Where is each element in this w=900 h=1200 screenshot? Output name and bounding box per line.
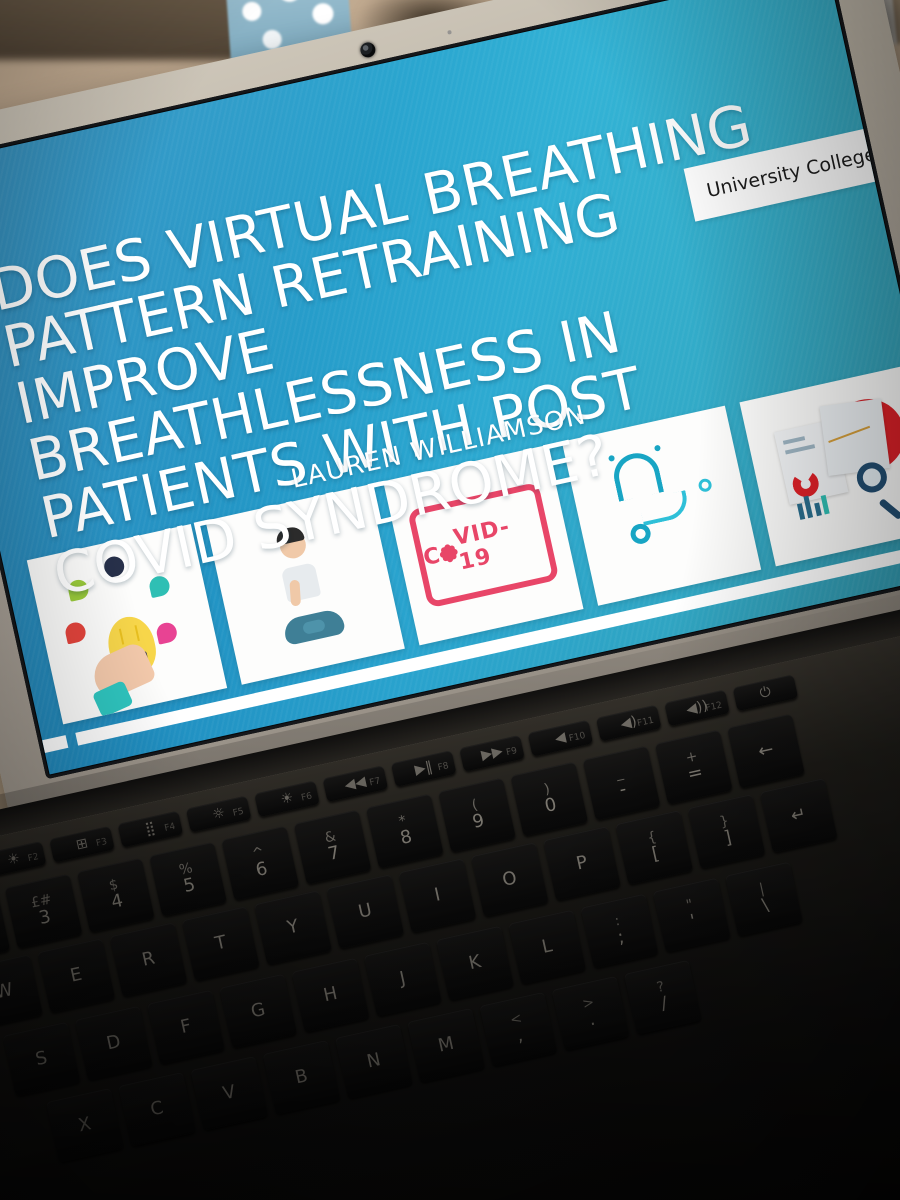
key-shift-glyph: } [718, 814, 730, 830]
idea-bubble-red [63, 620, 87, 644]
key-f9[interactable]: ▶▶F9 [459, 735, 525, 772]
key-glyph: ☀ [6, 851, 21, 868]
key-label: ; [616, 928, 626, 948]
key-fn-label: F11 [637, 716, 655, 729]
key-shift-glyph: ? [656, 980, 666, 996]
key-label: F [179, 1017, 193, 1038]
person-arm-icon [289, 580, 301, 607]
key-label: 0 [543, 796, 558, 817]
key-label: W [0, 980, 15, 1002]
key-[interactable]: += [655, 730, 733, 805]
key-f4[interactable]: ⣿F4 [117, 811, 183, 848]
key-t[interactable]: T [182, 906, 260, 981]
key-label: = [686, 763, 705, 785]
key-c[interactable]: C [118, 1072, 196, 1147]
key-label: D [105, 1032, 123, 1053]
key-[interactable]: ?/ [624, 960, 702, 1035]
key-label: 8 [399, 828, 414, 849]
key-[interactable]: <, [479, 992, 557, 1067]
key-fn-label: F4 [164, 822, 177, 834]
key-fn-label: F9 [505, 747, 518, 759]
key-shift-glyph: " [685, 898, 694, 914]
key-p[interactable]: P [543, 826, 621, 901]
key-fn-label: F3 [95, 837, 108, 849]
key-5[interactable]: %5 [149, 842, 227, 917]
key-f7[interactable]: ◀◀F7 [322, 765, 388, 802]
key-v[interactable]: V [190, 1056, 268, 1131]
key-label: H [322, 984, 339, 1005]
key-glyph: ☼ [211, 805, 226, 822]
key-label: , [515, 1027, 525, 1047]
key-label: N [365, 1051, 382, 1072]
key-4[interactable]: $4 [77, 858, 155, 933]
key-m[interactable]: M [407, 1008, 485, 1083]
key-glyph: ⊞ [75, 836, 90, 853]
key-label: K [467, 953, 483, 974]
key-l[interactable]: L [508, 910, 586, 985]
key-glyph: ☀ [279, 790, 294, 807]
key-label: Y [286, 917, 301, 938]
key-glyph: ▶▶ [480, 744, 504, 763]
key-label: T [213, 933, 228, 954]
magnifier-handle-icon [879, 498, 900, 520]
key-glyph: ▶‖ [413, 759, 434, 777]
key-label: 9 [471, 812, 486, 833]
key-glyph: ⏻ [758, 684, 772, 701]
key-glyph: ⣿ [144, 821, 157, 838]
key-label: ] [723, 829, 734, 849]
key-u[interactable]: U [326, 874, 404, 949]
person-torso-icon [281, 562, 322, 603]
key-[interactable]: >. [552, 976, 630, 1051]
key-o[interactable]: O [471, 842, 549, 917]
virus-particle-icon [440, 544, 458, 562]
key-glyph: ◀ [553, 730, 567, 747]
key-fn-label: F6 [300, 792, 313, 804]
key-fn-label: F5 [232, 807, 245, 819]
key-label: 6 [254, 860, 269, 881]
key-label: P [575, 853, 590, 874]
key-f6[interactable]: ☀F6 [254, 780, 320, 817]
key-label: S [34, 1049, 49, 1070]
key-label: J [398, 969, 407, 989]
key-label: O [501, 869, 519, 891]
key-power[interactable]: ⏻ [732, 674, 798, 711]
key-[interactable]: :; [581, 894, 659, 969]
key-label: 5 [182, 876, 197, 897]
key-i[interactable]: I [399, 858, 477, 933]
key-label: 4 [110, 892, 125, 913]
key-label: R [140, 949, 156, 970]
key-label: C [149, 1099, 165, 1120]
key-shift-glyph: { [646, 830, 658, 846]
key-label: [ [650, 845, 661, 865]
key-f[interactable]: F [147, 990, 225, 1065]
key-k[interactable]: K [436, 926, 514, 1001]
key-f8[interactable]: ▶‖F8 [391, 750, 457, 787]
key-[interactable]: {[ [615, 810, 693, 885]
slide-white-bar-left [42, 735, 68, 753]
key-[interactable]: }] [688, 794, 766, 869]
key-f2[interactable]: ☀F2 [0, 841, 46, 878]
key-fn-label: F2 [27, 853, 40, 865]
key-fn-label: F8 [437, 762, 450, 774]
key-label: 7 [326, 844, 341, 865]
key-shift-glyph: £# [30, 893, 53, 912]
key-9[interactable]: (9 [438, 778, 516, 853]
key-shift-glyph: & [324, 830, 338, 847]
key-8[interactable]: *8 [366, 794, 444, 869]
key-f3[interactable]: ⊞F3 [49, 826, 115, 863]
key-[interactable]: ↵ [760, 778, 838, 853]
key-shift-glyph: < [509, 1012, 524, 1029]
bar-chart-bar [797, 503, 805, 520]
key-f10[interactable]: ◀F10 [527, 720, 593, 757]
key-e[interactable]: E [37, 938, 115, 1013]
key-j[interactable]: J [364, 942, 442, 1017]
key-[interactable]: |\ [725, 862, 803, 937]
key-y[interactable]: Y [254, 890, 332, 965]
key-fn-label: F10 [568, 731, 586, 744]
key-label: M [436, 1034, 455, 1056]
key-[interactable]: "' [653, 878, 731, 953]
photo-scene: Does virtual breathing pattern retrainin… [0, 0, 900, 1200]
key-label: U [357, 901, 374, 922]
key-f11[interactable]: ◀)F11 [596, 705, 662, 742]
key-shift-glyph: % [178, 861, 194, 878]
key-label: E [69, 965, 84, 986]
key-[interactable]: _- [583, 746, 661, 821]
key-h[interactable]: H [292, 958, 370, 1033]
key-label: G [249, 1000, 267, 1021]
key-shift-glyph: ^ [251, 845, 266, 862]
key-fn-label: F7 [369, 777, 382, 789]
key-label: V [221, 1083, 237, 1104]
key-shift-glyph: + [684, 749, 699, 766]
key-3[interactable]: £#3 [5, 874, 83, 949]
key-label: \ [761, 896, 771, 916]
key-label: X [77, 1115, 93, 1136]
key-label: ' [689, 912, 698, 932]
key-label: 3 [37, 908, 52, 929]
key-label: ← [757, 740, 776, 762]
bar-chart-bar [821, 495, 830, 515]
key-w[interactable]: W [0, 954, 43, 1029]
key-label: L [540, 937, 554, 958]
key-g[interactable]: G [219, 974, 297, 1049]
key-r[interactable]: R [110, 922, 188, 997]
key-7[interactable]: &7 [294, 810, 372, 885]
key-label: B [293, 1067, 309, 1088]
key-shift-glyph: > [581, 996, 596, 1013]
key-label: I [433, 886, 442, 906]
bar-chart-bar [814, 502, 822, 516]
key-glyph: ◀) [619, 714, 638, 732]
key-label: . [587, 1011, 597, 1031]
key-glyph: ◀◀ [343, 774, 367, 793]
key-shift-glyph: _ [614, 766, 624, 782]
key-n[interactable]: N [335, 1024, 413, 1099]
key-6[interactable]: ^6 [221, 826, 299, 901]
key-x[interactable]: X [46, 1088, 124, 1163]
stethoscope-bell-icon [628, 522, 652, 546]
key-b[interactable]: B [263, 1040, 341, 1115]
key-label: - [618, 780, 628, 800]
key-s[interactable]: S [3, 1022, 81, 1097]
covid-stamp-prefix: C [421, 542, 443, 570]
key-fn-label: F12 [705, 701, 723, 714]
idea-bubble-pink [154, 621, 178, 645]
key-0[interactable]: )0 [510, 762, 588, 837]
key-shift-glyph: $ [108, 878, 120, 894]
key-label: / [659, 994, 669, 1014]
key-f5[interactable]: ☼F5 [186, 796, 252, 833]
stethoscope-disc-icon [697, 478, 713, 494]
key-f12[interactable]: ◀))F12 [664, 690, 730, 727]
key-[interactable]: ← [727, 714, 805, 789]
key-label: ↵ [789, 805, 808, 827]
key-d[interactable]: D [75, 1006, 153, 1081]
